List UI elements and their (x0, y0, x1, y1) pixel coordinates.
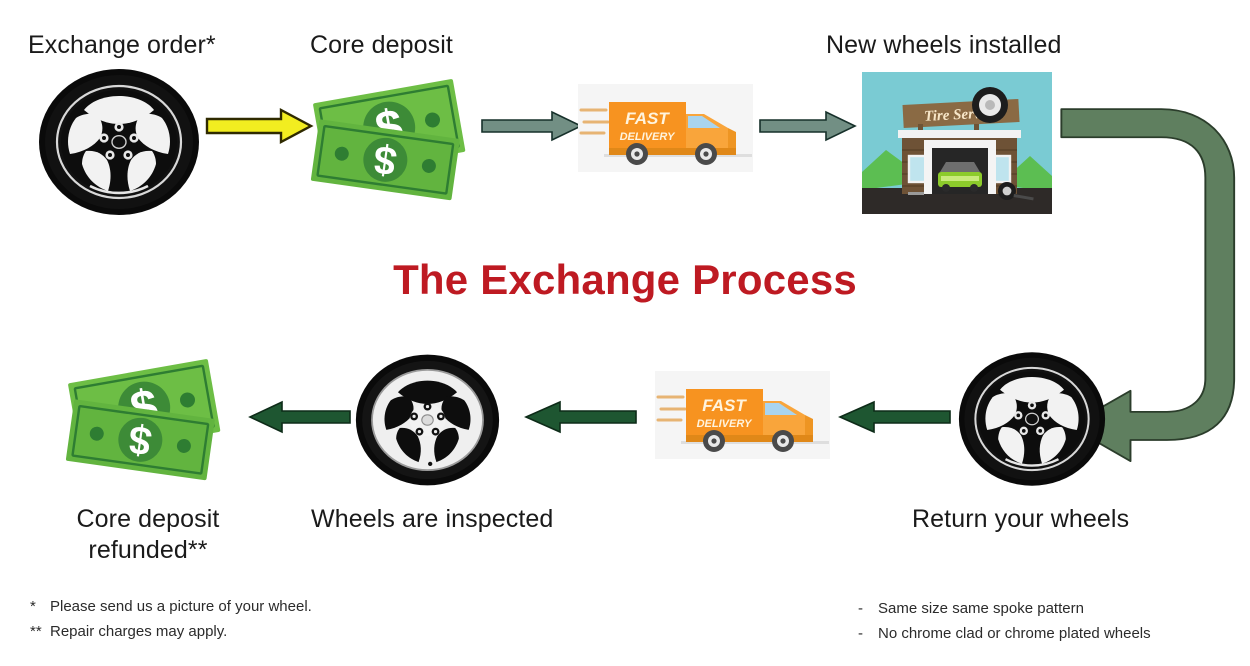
footnote-right-2: -No chrome clad or chrome plated wheels (858, 621, 1151, 646)
svg-text:FAST: FAST (625, 109, 670, 128)
money-refund-icon: $ $ (60, 350, 236, 486)
money-cash-icon: $ $ (305, 70, 481, 206)
footnote-right-1-marker: - (858, 596, 878, 621)
truck-delivery-bottom-icon: FAST DELIVERY (655, 371, 830, 459)
wheel-return-icon (958, 348, 1106, 490)
svg-text:DELIVERY: DELIVERY (620, 131, 676, 143)
footnote-left-2: **Repair charges may apply. (30, 619, 227, 644)
footnote-left-1-marker: * (30, 594, 50, 619)
tire-service-shop-icon: Tire Service (862, 72, 1052, 214)
wheel-inspected-icon (355, 350, 500, 490)
truck-delivery-top-icon: FAST DELIVERY (578, 84, 753, 172)
arrow-green-inspection-to-refund (248, 400, 350, 434)
exchange-process-diagram: Exchange order* Core deposit New wheels … (0, 0, 1250, 666)
wheel-black-icon (38, 68, 200, 216)
arrow-green-delivery-to-inspection (524, 400, 636, 434)
label-return-your-wheels: Return your wheels (912, 504, 1129, 535)
label-core-deposit-refunded-line2: refunded** (36, 535, 260, 566)
arrow-yellow-order-to-deposit (205, 108, 313, 144)
arrow-sage-deposit-to-delivery (482, 110, 582, 142)
footnote-left-1: *Please send us a picture of your wheel. (30, 594, 312, 619)
page-title: The Exchange Process (0, 256, 1250, 304)
footnote-right-2-marker: - (858, 621, 878, 646)
svg-text:DELIVERY: DELIVERY (697, 418, 753, 430)
footnote-left-2-text: Repair charges may apply. (50, 623, 227, 640)
arrow-green-return-to-delivery (838, 400, 950, 434)
footnote-right-1-text: Same size same spoke pattern (878, 600, 1084, 617)
arrow-sage-delivery-to-shop (760, 110, 856, 142)
label-exchange-order: Exchange order* (28, 30, 216, 61)
label-core-deposit-refunded-line1: Core deposit (36, 504, 260, 535)
footnote-left-1-text: Please send us a picture of your wheel. (50, 598, 312, 615)
footnote-right-2-text: No chrome clad or chrome plated wheels (878, 625, 1151, 642)
label-new-wheels-installed: New wheels installed (826, 30, 1061, 61)
svg-text:FAST: FAST (702, 396, 747, 415)
label-wheels-are-inspected: Wheels are inspected (311, 504, 553, 535)
footnote-right-1: -Same size same spoke pattern (858, 596, 1084, 621)
label-core-deposit: Core deposit (310, 30, 453, 61)
footnote-left-2-marker: ** (30, 619, 50, 644)
